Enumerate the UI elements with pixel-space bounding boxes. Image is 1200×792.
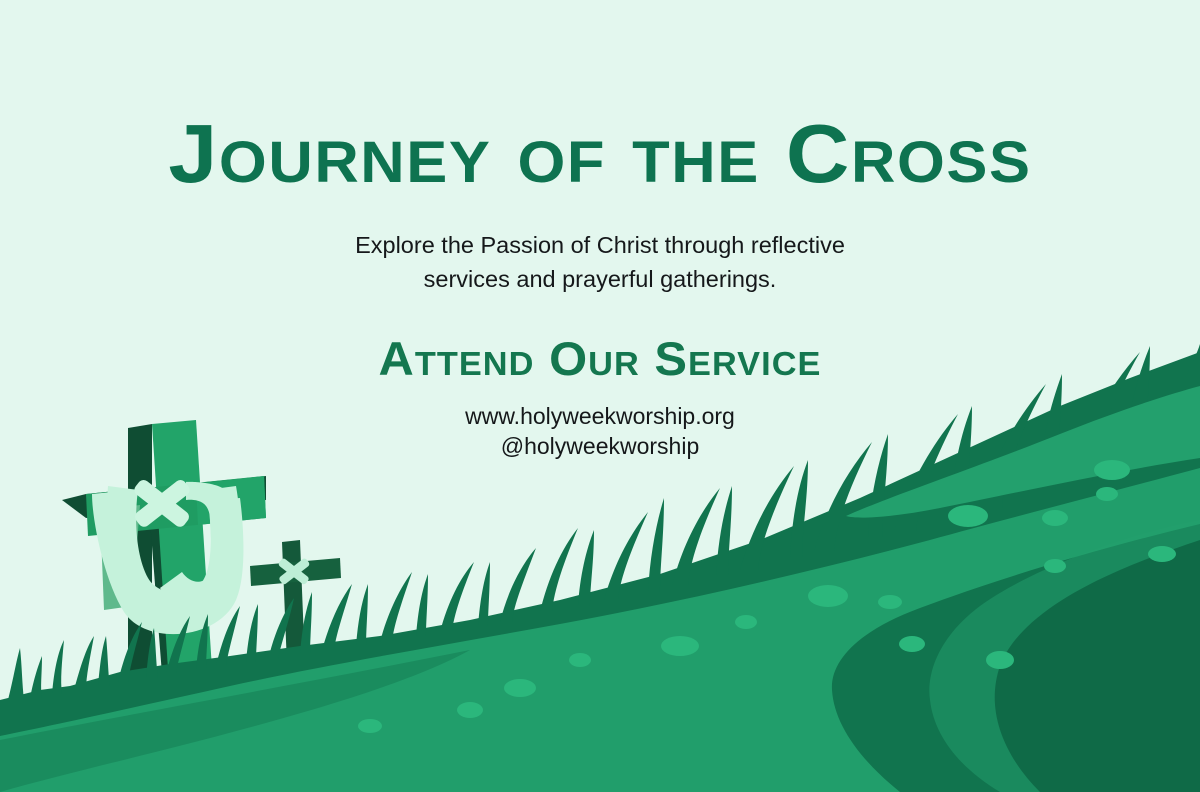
subtitle-line-1: Explore the Passion of Christ through re…: [0, 228, 1200, 262]
cta-heading: Attend Our Service: [0, 335, 1200, 382]
website-link[interactable]: www.holyweekworship.org: [0, 401, 1200, 431]
subtitle-line-2: services and prayerful gatherings.: [0, 262, 1200, 296]
social-handle[interactable]: @holyweekworship: [0, 431, 1200, 461]
poster-canvas: Journey of the Cross Explore the Passion…: [0, 0, 1200, 792]
contact-block: www.holyweekworship.org @holyweekworship: [0, 401, 1200, 461]
page-title: Journey of the Cross: [0, 112, 1200, 195]
subtitle: Explore the Passion of Christ through re…: [0, 228, 1200, 296]
text-layer: Journey of the Cross Explore the Passion…: [0, 0, 1200, 792]
